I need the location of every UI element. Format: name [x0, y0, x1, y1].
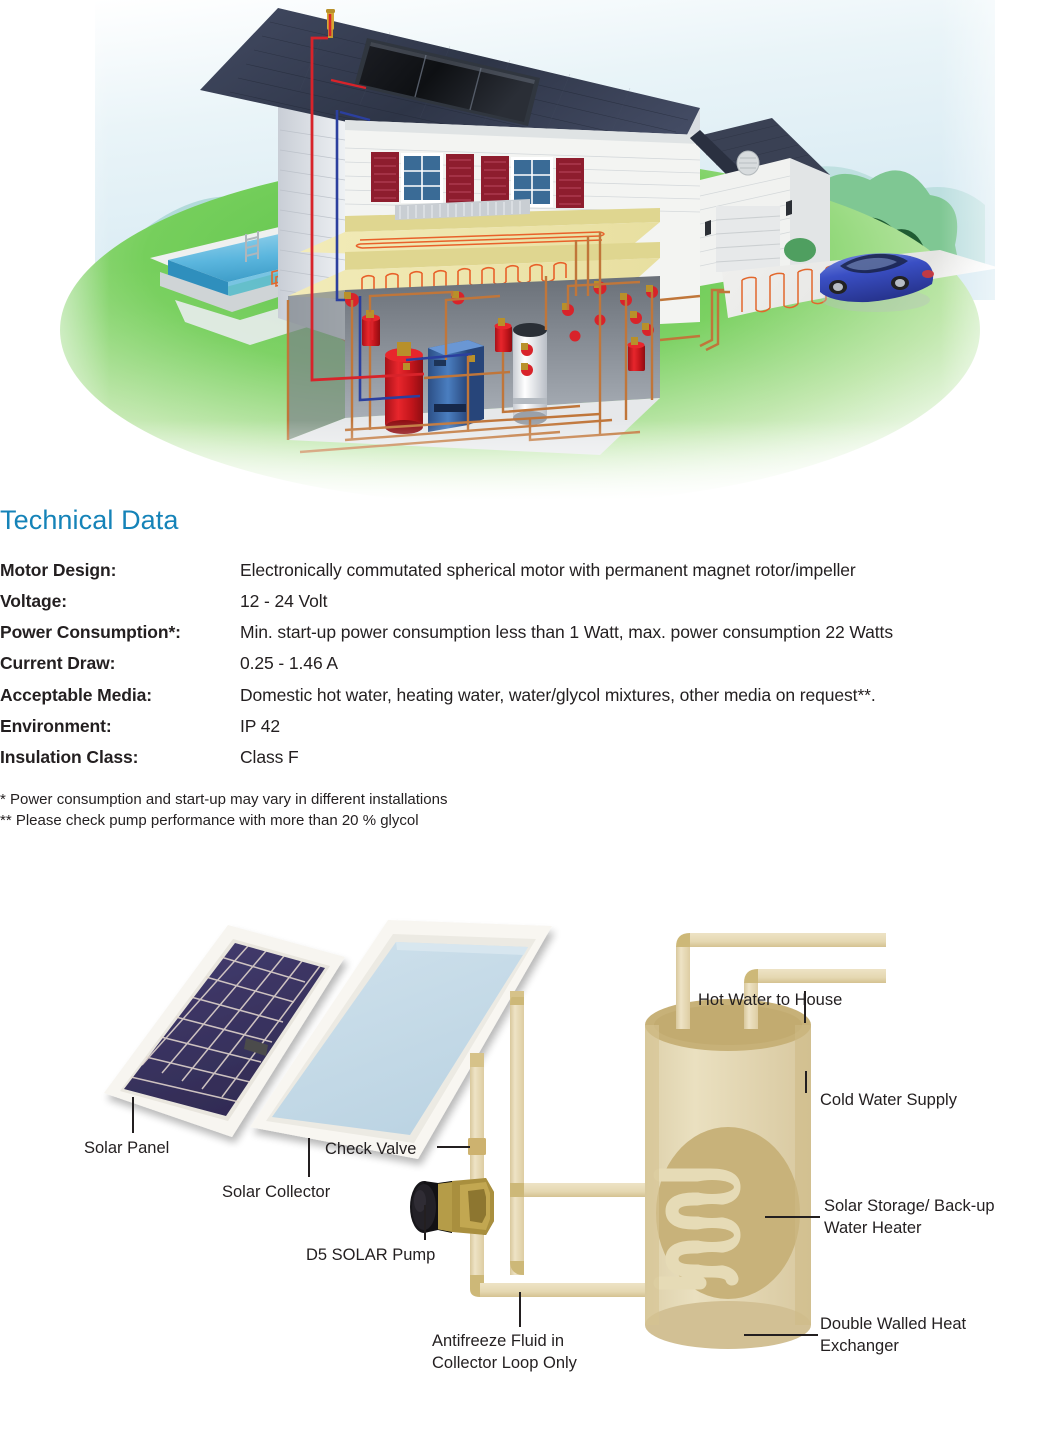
spec-value: Electronically commutated spherical moto… [240, 560, 1047, 580]
label-antifreeze-line-2: Collector Loop Only [432, 1352, 577, 1374]
basement-boiler [428, 340, 484, 432]
spec-value: 0.25 - 1.46 A [240, 653, 1047, 673]
house-illustration [0, 0, 1047, 500]
footnotes: * Power consumption and start-up may var… [0, 789, 1047, 832]
spec-row-environment: Environment: IP 42 [0, 716, 1047, 736]
d5-solar-pump-graphic [410, 1178, 494, 1235]
spec-row-acceptable-media: Acceptable Media: Domestic hot water, he… [0, 685, 1047, 705]
label-exchanger-line-1: Double Walled Heat [820, 1313, 966, 1335]
spec-label: Motor Design: [0, 560, 240, 580]
hot-water-to-house-pipe [690, 933, 886, 947]
label-storage-line-2: Water Heater [824, 1217, 995, 1239]
label-exchanger-line-2: Exchanger [820, 1335, 966, 1357]
label-double-walled-heat-exchanger: Double Walled Heat Exchanger [820, 1313, 966, 1358]
label-cold-water-supply: Cold Water Supply [820, 1089, 957, 1111]
page-title: Technical Data [0, 500, 1047, 534]
label-antifreeze-line-1: Antifreeze Fluid in [432, 1330, 577, 1352]
spec-value: Class F [240, 747, 1047, 767]
check-valve-graphic [468, 1138, 486, 1155]
spec-value: IP 42 [240, 716, 1047, 736]
spec-label: Power Consumption*: [0, 622, 240, 642]
footnote-double-asterisk: ** Please check pump performance with mo… [0, 810, 1047, 831]
spec-value: 12 - 24 Volt [240, 591, 1047, 611]
spec-label: Current Draw: [0, 653, 240, 673]
label-solar-collector: Solar Collector [222, 1181, 330, 1203]
footnote-single-asterisk: * Power consumption and start-up may var… [0, 789, 1047, 810]
spec-label: Environment: [0, 716, 240, 736]
spec-row-current-draw: Current Draw: 0.25 - 1.46 A [0, 653, 1047, 673]
spec-label: Acceptable Media: [0, 685, 240, 705]
collector-loop-piping [468, 991, 672, 1297]
spec-row-insulation-class: Insulation Class: Class F [0, 747, 1047, 767]
cutaway-house-svg [0, 0, 1047, 500]
label-d5-solar-pump: D5 SOLAR Pump [306, 1244, 435, 1266]
label-storage-line-1: Solar Storage/ Back-up [824, 1195, 995, 1217]
label-check-valve: Check Valve [325, 1138, 416, 1160]
hot-water-riser [676, 947, 690, 1029]
spec-label: Voltage: [0, 591, 240, 611]
technical-data-section: Technical Data Motor Design: Electronica… [0, 500, 1047, 831]
cold-water-supply-pipe [758, 969, 886, 983]
spec-row-power-consumption: Power Consumption*: Min. start-up power … [0, 622, 1047, 642]
label-solar-panel: Solar Panel [84, 1137, 169, 1159]
spec-label: Insulation Class: [0, 747, 240, 767]
spec-row-motor-design: Motor Design: Electronically commutated … [0, 560, 1047, 580]
label-antifreeze-fluid: Antifreeze Fluid in Collector Loop Only [432, 1330, 577, 1375]
parked-car [820, 253, 934, 312]
spec-row-voltage: Voltage: 12 - 24 Volt [0, 591, 1047, 611]
spec-value: Domestic hot water, heating water, water… [240, 685, 1047, 705]
label-solar-storage-water-heater: Solar Storage/ Back-up Water Heater [824, 1195, 995, 1240]
solar-system-schematic: Solar Panel Solar Collector Check Valve … [0, 895, 1047, 1448]
spec-value: Min. start-up power consumption less tha… [240, 622, 1047, 642]
label-hot-water-to-house: Hot Water to House [698, 989, 842, 1011]
